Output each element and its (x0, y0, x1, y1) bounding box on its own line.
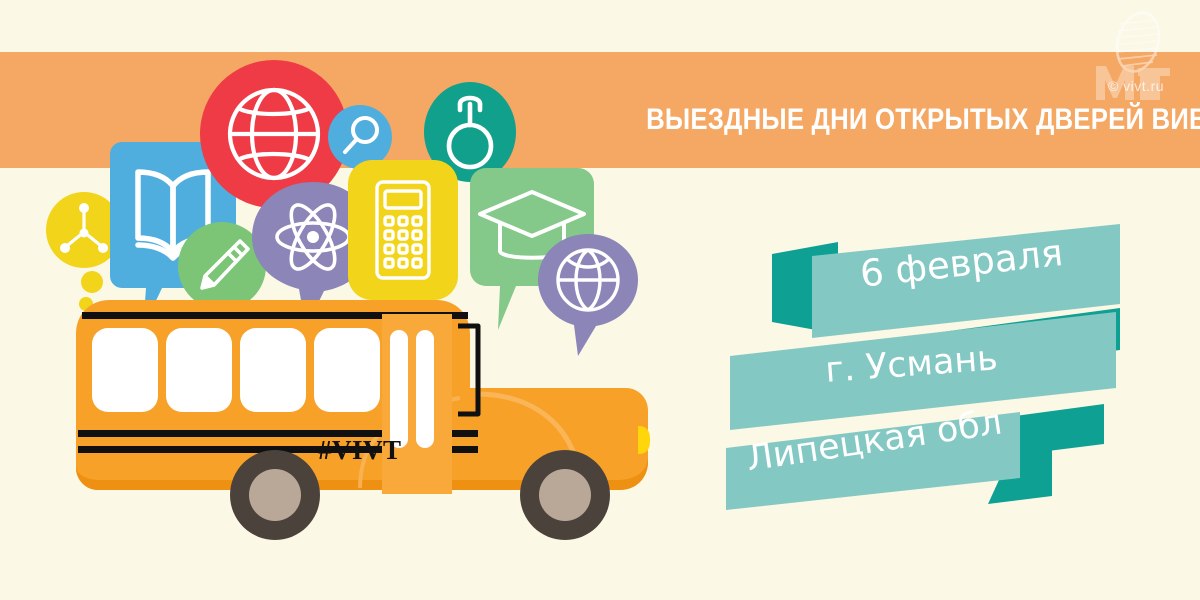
poster-canvas: ВЫЕЗДНЫЕ ДНИ ОТКРЫТЫХ ДВЕРЕЙ ВИВТ © v (0, 0, 1200, 600)
bus-hashtag: #VIVT (318, 435, 402, 466)
copyright-text: © vivt.ru (1076, 78, 1196, 94)
page-title: ВЫЕЗДНЫЕ ДНИ ОТКРЫТЫХ ДВЕРЕЙ ВИВТ (646, 100, 1175, 140)
school-bus-illustration (60, 290, 680, 540)
